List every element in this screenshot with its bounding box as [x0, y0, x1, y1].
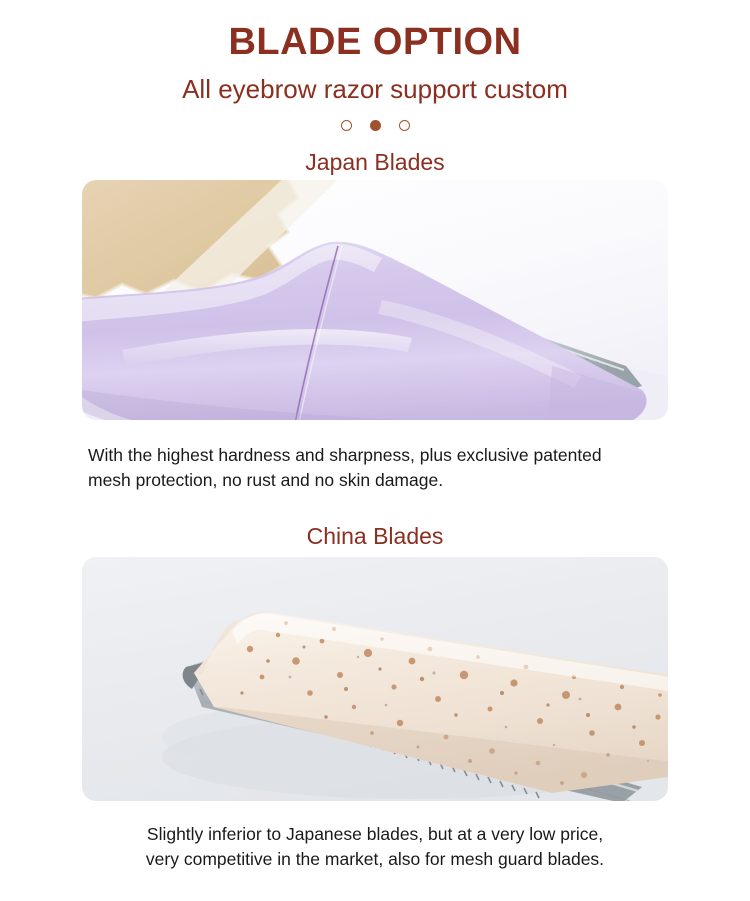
- carousel-dot-2-active[interactable]: [370, 120, 381, 131]
- japan-blade-illustration: [82, 180, 668, 420]
- product-detail-page: BLADE OPTION All eyebrow razor support c…: [0, 0, 750, 901]
- product-photo-china-blades: [82, 557, 668, 801]
- section-heading-china-blades: China Blades: [0, 523, 750, 550]
- caption-japan-blades: With the highest hardness and sharpness,…: [0, 443, 688, 493]
- china-blade-illustration: [82, 557, 668, 801]
- carousel-dot-1[interactable]: [341, 120, 352, 131]
- page-subtitle: All eyebrow razor support custom: [0, 74, 750, 105]
- caption-japan-line-1: With the highest hardness and sharpness,…: [88, 443, 688, 468]
- product-photo-japan-blades: [82, 180, 668, 420]
- caption-japan-line-2: mesh protection, no rust and no skin dam…: [88, 468, 688, 493]
- page-title: BLADE OPTION: [0, 22, 750, 64]
- caption-china-line-2: very competitive in the market, also for…: [0, 847, 750, 872]
- section-heading-japan-blades: Japan Blades: [0, 149, 750, 176]
- caption-china-blades: Slightly inferior to Japanese blades, bu…: [0, 822, 750, 872]
- caption-china-line-1: Slightly inferior to Japanese blades, bu…: [0, 822, 750, 847]
- carousel-dots: [0, 120, 750, 131]
- carousel-dot-3[interactable]: [399, 120, 410, 131]
